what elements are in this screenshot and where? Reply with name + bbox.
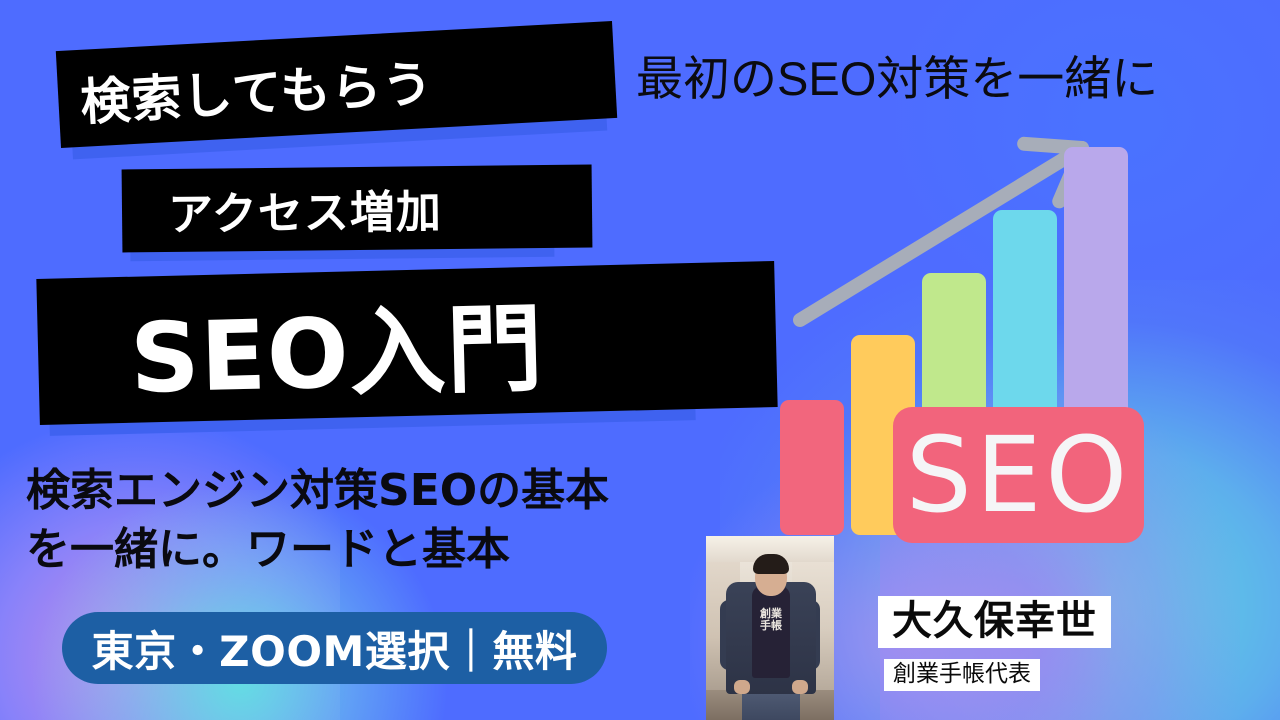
photo-hair	[753, 554, 789, 574]
seo-badge-label: SEO	[906, 423, 1132, 527]
photo-shirt	[752, 586, 790, 678]
presenter-name: 大久保幸世	[878, 596, 1111, 648]
presenter-title: 創業手帳代表	[884, 659, 1040, 691]
seo-badge: SEO	[893, 407, 1144, 543]
photo-shirt-line-2: 手帳	[752, 620, 790, 632]
chart-bar-1	[780, 400, 844, 535]
slide-canvas: 最初のSEO対策を一緒に 検索してもらう アクセス増加 SEO入門 検索エンジン…	[0, 0, 1280, 720]
banner-title: SEO入門	[36, 261, 777, 425]
cta-pill-button[interactable]: 東京・ZOOM選択｜無料	[62, 612, 607, 684]
photo-shirt-text: 創業 手帳	[752, 608, 790, 632]
body-copy-line-1: 検索エンジン対策SEOの基本	[26, 462, 609, 521]
photo-hand-left	[734, 680, 750, 694]
photo-hand-right	[792, 680, 808, 694]
banner-access: アクセス増加	[122, 165, 593, 253]
presenter-photo: 創業 手帳	[706, 536, 834, 720]
body-copy: 検索エンジン対策SEOの基本 を一緒に。ワードと基本	[26, 462, 609, 580]
headline-tagline: 最初のSEO対策を一緒に	[636, 40, 1158, 109]
body-copy-line-2: を一緒に。ワードと基本	[26, 521, 609, 580]
